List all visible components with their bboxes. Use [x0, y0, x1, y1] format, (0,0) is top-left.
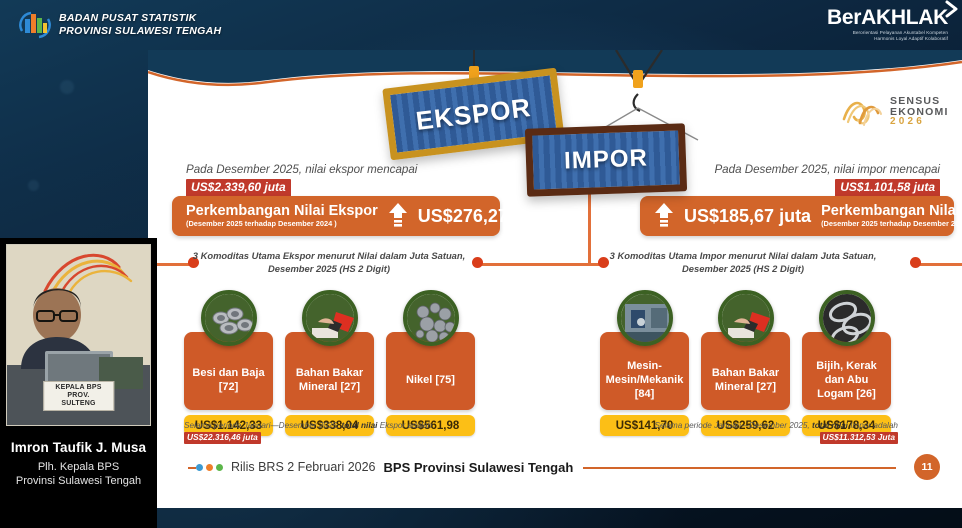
export-growth-pill: Perkembangan Nilai Ekspor (Desember 2025…	[172, 196, 500, 236]
chevron-right-icon	[945, 0, 959, 18]
export-headline: Pada Desember 2025, nilai ekspor mencapa…	[186, 162, 417, 197]
bokeh-speck	[60, 80, 74, 94]
speaker-name: Imron Taufik J. Musa	[0, 440, 157, 455]
export-total-prefix: Selama periode Januari—Desember 2025,	[184, 421, 341, 430]
presentation-stage: BADAN PUSAT STATISTIK PROVINSI SULAWESI …	[0, 0, 962, 528]
rail-vertical-center	[588, 190, 591, 266]
sensus-line3: 2026	[890, 117, 949, 128]
slide-footer: Rilis BRS 2 Februari 2026 BPS Provinsi S…	[148, 454, 962, 480]
import-card-2-head	[701, 290, 790, 332]
export-growth-label: Perkembangan Nilai Ekspor (Desember 2025…	[186, 203, 378, 229]
import-container-label: IMPOR	[564, 145, 649, 176]
import-growth-title: Perkembangan Nilai Impor	[821, 203, 962, 219]
import-card-3-head	[802, 290, 891, 332]
export-total-mid: Ekspor adalah	[377, 421, 432, 430]
import-section-title: 3 Komoditas Utama Impor menurut Nilai da…	[598, 250, 888, 275]
rail-right-outer	[916, 263, 962, 266]
berakhlak-title-text: BerAKHLAK	[827, 6, 948, 29]
sensus-ekonomi-logo: SENSUS EKONOMI 2026	[840, 95, 949, 129]
footer-release-label: Rilis BRS 2 Februari 2026	[231, 460, 376, 474]
export-card-2-head	[285, 290, 374, 332]
sensus-ribbon-icon	[840, 95, 884, 129]
berakhlak-subtitle: Berorientasi Pelayanan Akuntabel Kompete…	[827, 30, 948, 42]
fuel-nozzle-icon	[718, 290, 774, 346]
import-growth-pill: US$185,67 juta Perkembangan Nilai Impor …	[640, 196, 954, 236]
berakhlak-logo: BerAKHLAK Berorientasi Pelayanan Akuntab…	[827, 7, 948, 42]
metal-ore-icon	[819, 290, 875, 346]
footer-org-label: BPS Provinsi Sulawesi Tengah	[384, 460, 574, 475]
slide-canvas: EKSPOR IMPOR SENSUS EKONOMI 2026	[148, 50, 962, 508]
import-commodity-row: Mesin-Mesin/Mekanik [84] US$141,70	[600, 290, 891, 436]
import-headline-value: US$1.101,58 juta	[835, 179, 940, 197]
rail-center	[473, 263, 603, 266]
fuel-nozzle-icon	[302, 290, 358, 346]
export-total-bold: total nilai	[341, 421, 377, 430]
import-headline: Pada Desember 2025, nilai impor mencapai…	[714, 162, 940, 197]
export-commodity-card-3[interactable]: Nikel [75] US$561,98	[386, 290, 475, 436]
import-total-value: US$11.312,53 Juta	[820, 432, 898, 445]
export-section-title: 3 Komoditas Utama Ekspor menurut Nilai d…	[184, 250, 474, 275]
export-total-value: US$22.316,46 juta	[184, 432, 261, 445]
export-headline-text: Pada Desember 2025, nilai ekspor mencapa…	[186, 162, 417, 177]
rail-dot-right	[910, 257, 921, 268]
export-container-label: EKSPOR	[414, 92, 533, 137]
export-commodity-card-1[interactable]: Besi dan Baja [72] US$1.142,33	[184, 290, 273, 436]
sensus-ekonomi-text: SENSUS EKONOMI 2026	[890, 96, 949, 128]
bps-org-text: BADAN PUSAT STATISTIK PROVINSI SULAWESI …	[59, 12, 221, 38]
bps-logo: BADAN PUSAT STATISTIK PROVINSI SULAWESI …	[18, 9, 221, 41]
export-growth-subtitle: (Desember 2025 terhadap Desember 2024 )	[186, 219, 378, 229]
speaker-video-feed[interactable]: KEPALA BPS PROV. SULTENG	[6, 244, 151, 426]
bps-logo-icon	[18, 9, 52, 41]
import-headline-text: Pada Desember 2025, nilai impor mencapai	[714, 162, 940, 177]
import-card-1-head	[600, 290, 689, 332]
export-growth-title: Perkembangan Nilai Ekspor	[186, 203, 378, 219]
footer-dots-icon	[196, 464, 223, 471]
import-total-prefix: Selama periode Januari—Desember 2025,	[655, 421, 812, 430]
import-container-graphic: IMPOR	[525, 123, 687, 197]
export-total-note: Selama periode Januari—Desember 2025, to…	[184, 420, 484, 444]
export-growth-value: US$276,27 juta	[418, 206, 545, 227]
export-commodity-row: Besi dan Baja [72] US$1.142,33	[184, 290, 475, 436]
speaker-nameplate: KEPALA BPS PROV. SULTENG	[43, 381, 115, 411]
import-commodity-card-2[interactable]: Bahan Bakar Mineral [27] US$259,62	[701, 290, 790, 436]
import-growth-value: US$185,67 juta	[684, 206, 811, 227]
up-arrow-icon	[388, 203, 408, 229]
nickel-ore-icon	[403, 290, 459, 346]
footer-content: Rilis BRS 2 Februari 2026 BPS Provinsi S…	[196, 454, 583, 480]
import-total-mid: Impor adalah	[848, 421, 898, 430]
machinery-icon	[617, 290, 673, 346]
speaker-role: Plh. Kepala BPS Provinsi Sulawesi Tengah	[0, 460, 157, 488]
import-growth-label: Perkembangan Nilai Impor (Desember 2025 …	[821, 203, 962, 229]
export-commodity-card-2[interactable]: Bahan Bakar Mineral [27] US$338,04	[285, 290, 374, 436]
bps-org-line2: PROVINSI SULAWESI TENGAH	[59, 25, 221, 38]
import-commodity-card-1[interactable]: Mesin-Mesin/Mekanik [84] US$141,70	[600, 290, 689, 436]
import-total-bold: total nilai	[812, 421, 848, 430]
up-arrow-icon	[654, 203, 674, 229]
speaker-video-panel[interactable]: KEPALA BPS PROV. SULTENG Imron Taufik J.…	[0, 238, 157, 528]
export-card-1-head	[184, 290, 273, 332]
import-growth-subtitle: (Desember 2025 terhadap Desember 2024 )	[821, 219, 962, 229]
export-card-3-head	[386, 290, 475, 332]
berakhlak-title: BerAKHLAK	[827, 7, 948, 29]
top-bar: BADAN PUSAT STATISTIK PROVINSI SULAWESI …	[0, 0, 962, 50]
import-commodity-card-3[interactable]: Bijih, Kerak dan Abu Logam [26] US$178,3…	[802, 290, 891, 436]
bps-org-line1: BADAN PUSAT STATISTIK	[59, 12, 221, 25]
export-headline-value: US$2.339,60 juta	[186, 179, 291, 197]
import-total-note: Selama periode Januari—Desember 2025, to…	[598, 420, 898, 444]
page-number-badge: 11	[914, 454, 940, 480]
steel-pipes-icon	[201, 290, 257, 346]
bokeh-speck	[28, 180, 39, 191]
